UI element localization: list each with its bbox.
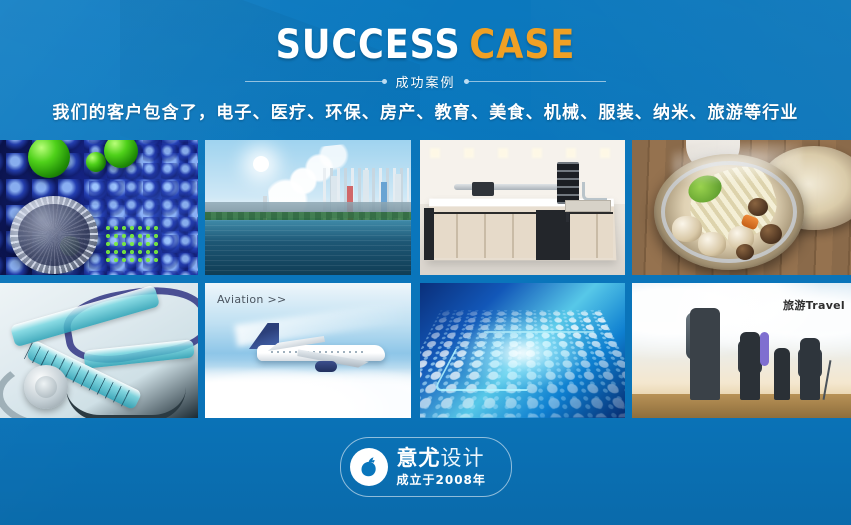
- subtitle-chinese: 成功案例: [395, 72, 455, 91]
- medical-artwork: [0, 283, 198, 418]
- subtitle-row: 成功案例: [0, 70, 851, 92]
- company-logo[interactable]: 意尤设计 成立于2008年: [340, 437, 512, 497]
- logo-name-bold: 意尤: [397, 446, 441, 470]
- case-thumb-aviation[interactable]: Aviation >>: [205, 283, 411, 418]
- case-thumb-electronics[interactable]: [420, 283, 625, 418]
- title-case: CASE: [469, 22, 575, 68]
- case-thumb-nanotech[interactable]: [0, 140, 198, 275]
- page-title: SUCCESSCASE: [51, 22, 800, 68]
- title-success: SUCCESS: [276, 22, 461, 68]
- electronics-artwork: [420, 283, 625, 418]
- banner-footer: 意尤设计 成立于2008年: [0, 425, 851, 525]
- divider-right: [466, 81, 606, 82]
- logo-established: 成立于2008年: [397, 474, 486, 486]
- mouse-bird-icon: [350, 448, 388, 486]
- environment-artwork: [205, 140, 411, 275]
- divider-left: [245, 81, 385, 82]
- case-thumb-environment[interactable]: [205, 140, 411, 275]
- gallery-row-1: [0, 140, 851, 275]
- tagline: 我们的客户包含了，电子、医疗、环保、房产、教育、美食、机械、服装、纳米、旅游等行…: [0, 98, 851, 123]
- gallery-row-2: Aviation >>: [0, 283, 851, 418]
- nanotech-artwork: [0, 140, 198, 275]
- success-case-banner: SUCCESSCASE 成功案例 我们的客户包含了，电子、医疗、环保、房产、教育…: [0, 0, 851, 525]
- case-thumb-laboratory[interactable]: [420, 140, 625, 275]
- case-thumb-medical[interactable]: [0, 283, 198, 418]
- case-thumb-food[interactable]: [632, 140, 851, 275]
- food-artwork: [632, 140, 851, 275]
- travel-caption: 旅游Travel: [783, 297, 845, 313]
- logo-text-block: 意尤设计 成立于2008年: [397, 448, 486, 486]
- case-thumb-travel[interactable]: 旅游Travel: [632, 283, 851, 418]
- banner-header: SUCCESSCASE 成功案例 我们的客户包含了，电子、医疗、环保、房产、教育…: [0, 0, 851, 136]
- aviation-caption: Aviation >>: [217, 293, 287, 306]
- logo-company-name: 意尤设计: [397, 448, 486, 469]
- logo-name-light: 设计: [441, 446, 485, 470]
- case-gallery: Aviation >>: [0, 140, 851, 418]
- laboratory-artwork: [420, 140, 625, 275]
